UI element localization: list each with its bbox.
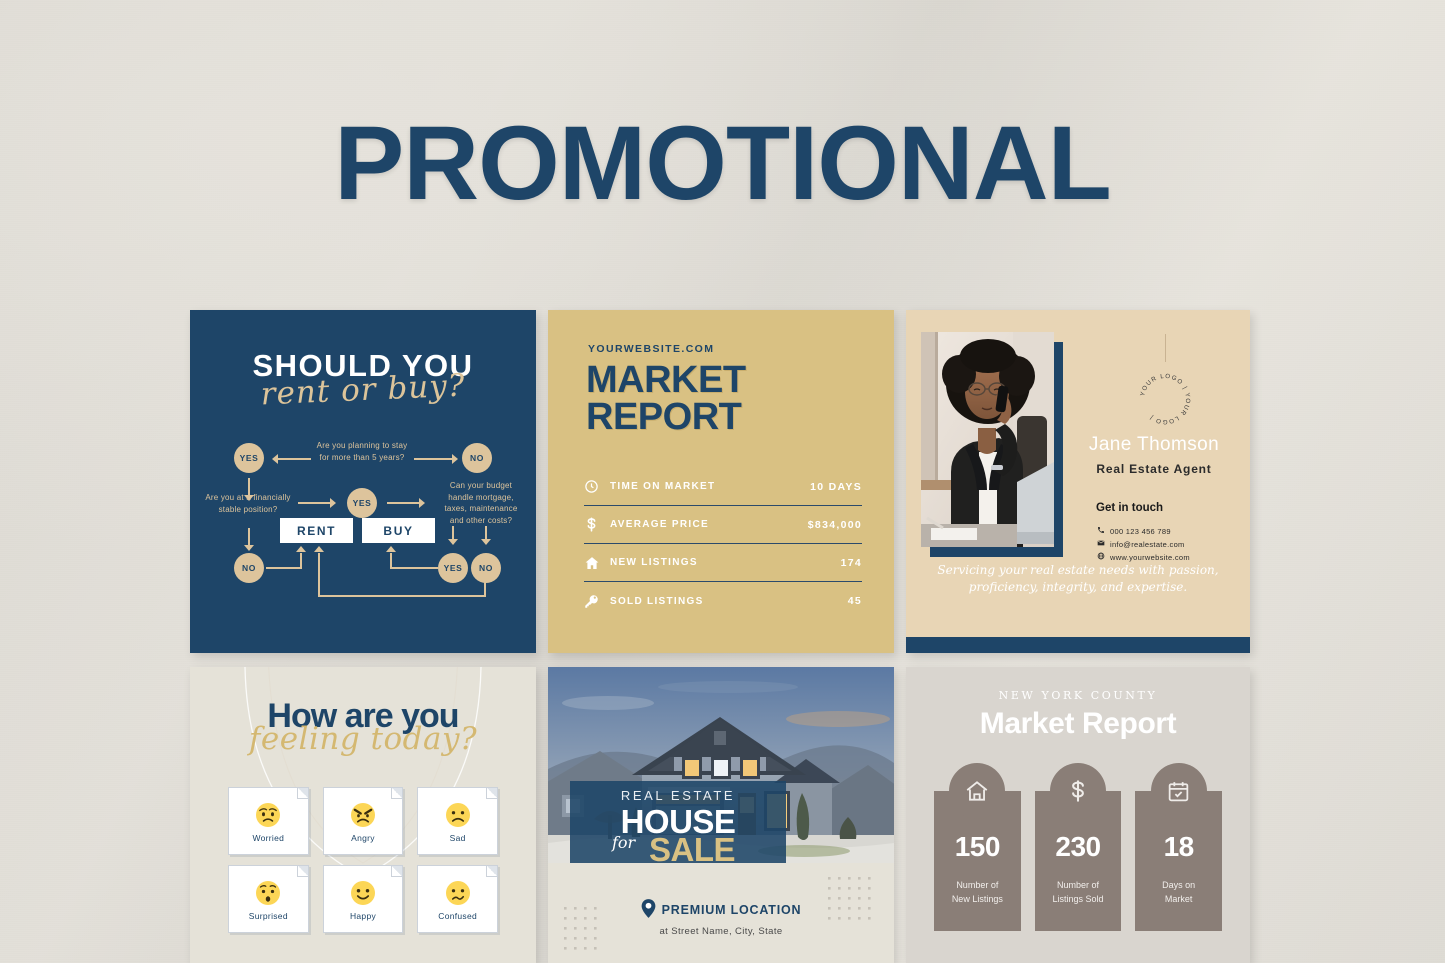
stat-caption-line2: Market xyxy=(1135,893,1222,907)
contact-text: www.yourwebsite.com xyxy=(1110,553,1190,562)
flow-arrowhead-6 xyxy=(244,545,254,551)
stat-label: NEW LISTINGS xyxy=(610,557,841,568)
flow-arrowhead-9 xyxy=(296,546,306,552)
rent-box[interactable]: RENT xyxy=(280,518,353,543)
flow-arrowhead-2 xyxy=(452,454,458,464)
card-rent-or-buy[interactable]: SHOULD YOU rent or buy? YES Are you plan… xyxy=(190,310,536,653)
logo-badge: YOUR LOGO | YOUR LOGO | xyxy=(1134,368,1196,430)
market-report-title-line1: MARKET xyxy=(586,362,746,399)
card-market-report[interactable]: YOURWEBSITE.COM MARKET REPORT TIME ON MA… xyxy=(548,310,894,653)
stat-caption-line1: Number of xyxy=(934,879,1021,893)
contact-text: info@realestate.com xyxy=(1110,540,1185,549)
flow-question-2: Are you at a financially stable position… xyxy=(202,492,294,515)
flow-question-3: Can your budget handle mortgage, taxes, … xyxy=(438,480,524,526)
county-stats: 150 Number of New Listings 230 Number of xyxy=(934,763,1222,931)
emoji-card-surprised[interactable]: Surprised xyxy=(228,865,309,933)
flow-arrowhead-11 xyxy=(314,546,324,552)
emoji-grid: Worried Angry xyxy=(228,787,498,933)
flow-node-yes-1: YES xyxy=(234,443,264,473)
angry-face-icon xyxy=(348,800,378,830)
flow-question-1: Are you planning to stay for more than 5… xyxy=(316,440,408,463)
emoji-label: Confused xyxy=(438,911,477,921)
emoji-card-worried[interactable]: Worried xyxy=(228,787,309,855)
page-fold-icon xyxy=(297,788,308,799)
stat-value: 10 DAYS xyxy=(810,481,862,493)
stat-number: 18 xyxy=(1135,831,1222,863)
emoji-label: Sad xyxy=(450,833,466,843)
banner-sale: SALE xyxy=(570,831,786,869)
agent-name: Jane Thomson xyxy=(1064,434,1244,456)
buy-box[interactable]: BUY xyxy=(362,518,435,543)
page-fold-icon xyxy=(486,866,497,877)
location-subtitle: at Street Name, City, State xyxy=(548,926,894,937)
confused-face-icon xyxy=(443,878,473,908)
flow-arrow-8 xyxy=(485,526,487,540)
location-title: PREMIUM LOCATION xyxy=(662,903,802,917)
logo-stem xyxy=(1165,334,1166,362)
flowchart: YES Are you planning to stay for more th… xyxy=(190,310,536,653)
emoji-card-confused[interactable]: Confused xyxy=(417,865,498,933)
flow-arrow-11b xyxy=(484,582,486,597)
stat-label: TIME ON MARKET xyxy=(610,481,810,492)
happy-face-icon xyxy=(348,878,378,908)
flow-node-yes-2: YES xyxy=(347,488,377,518)
flow-arrow-1 xyxy=(275,458,311,460)
stat-label: AVERAGE PRICE xyxy=(610,519,808,530)
stat-caption: Number of Listings Sold xyxy=(1035,879,1122,906)
stat-row-new-listings: NEW LISTINGS 174 xyxy=(584,544,862,582)
emoji-label: Angry xyxy=(351,833,375,843)
flow-arrow-9b xyxy=(300,553,302,569)
emoji-label: Happy xyxy=(350,911,376,921)
flow-arrow-4 xyxy=(298,502,330,504)
dollar-icon xyxy=(584,516,610,533)
county-stat-new-listings: 150 Number of New Listings xyxy=(934,763,1021,931)
page-title: PROMOTIONAL xyxy=(0,104,1445,224)
flow-arrowhead-5 xyxy=(419,498,425,508)
stat-number: 150 xyxy=(934,831,1021,863)
home-icon xyxy=(949,763,1005,819)
flow-arrow-5 xyxy=(387,502,419,504)
county-stat-listings-sold: 230 Number of Listings Sold xyxy=(1035,763,1122,931)
stat-label: SOLD LISTINGS xyxy=(610,596,848,607)
flow-arrow-9 xyxy=(266,567,302,569)
stat-caption-line1: Days on xyxy=(1135,879,1222,893)
agent-photo xyxy=(921,332,1054,547)
stat-value: $834,000 xyxy=(808,519,862,531)
agent-role: Real Estate Agent xyxy=(1064,462,1244,476)
stat-caption-line2: Listings Sold xyxy=(1035,893,1122,907)
svg-text:YOUR LOGO | YOUR LOGO |: YOUR LOGO | YOUR LOGO | xyxy=(1139,373,1191,425)
globe-icon xyxy=(1097,552,1105,562)
flow-arrow-11c xyxy=(318,553,320,597)
emoji-label: Worried xyxy=(252,833,284,843)
template-grid: SHOULD YOU rent or buy? YES Are you plan… xyxy=(190,310,1250,963)
flow-arrowhead-4 xyxy=(330,498,336,508)
market-stats-list: TIME ON MARKET 10 DAYS AVERAGE PRICE $83… xyxy=(584,468,862,620)
stat-row-average-price: AVERAGE PRICE $834,000 xyxy=(584,506,862,544)
card-agent-profile[interactable]: YOUR LOGO | YOUR LOGO | Jane Thomson Rea… xyxy=(906,310,1250,653)
flow-node-yes-3: YES xyxy=(438,553,468,583)
stat-caption-line1: Number of xyxy=(1035,879,1122,893)
clock-icon xyxy=(584,479,610,494)
banner-eyebrow: REAL ESTATE xyxy=(570,788,786,803)
calendar-icon xyxy=(1151,763,1207,819)
county-label: NEW YORK COUNTY xyxy=(906,689,1250,702)
contact-phone[interactable]: 000 123 456 789 xyxy=(1097,526,1171,536)
stat-number: 230 xyxy=(1035,831,1122,863)
stat-caption: Number of New Listings xyxy=(934,879,1021,906)
flow-arrow-7 xyxy=(452,526,454,540)
surprised-face-icon xyxy=(253,878,283,908)
market-report-title-line2: REPORT xyxy=(586,399,746,436)
mail-icon xyxy=(1097,539,1105,549)
emoji-card-happy[interactable]: Happy xyxy=(323,865,404,933)
page-fold-icon xyxy=(391,788,402,799)
flow-arrowhead-8 xyxy=(481,539,491,545)
website-label: YOURWEBSITE.COM xyxy=(588,343,714,355)
get-in-touch-heading: Get in touch xyxy=(1096,502,1163,514)
contact-website[interactable]: www.yourwebsite.com xyxy=(1097,552,1190,562)
page-fold-icon xyxy=(391,866,402,877)
feelings-subtitle: feeling today? xyxy=(190,721,536,757)
emoji-card-angry[interactable]: Angry xyxy=(323,787,404,855)
agent-tagline: Servicing your real estate needs with pa… xyxy=(926,562,1230,597)
dollar-icon xyxy=(1050,763,1106,819)
stat-row-time-on-market: TIME ON MARKET 10 DAYS xyxy=(584,468,862,506)
agent-footer-bar xyxy=(906,637,1250,653)
flow-arrow-10b xyxy=(390,553,392,569)
market-report-title: MARKET REPORT xyxy=(586,362,746,436)
stat-value: 174 xyxy=(841,557,862,569)
banner-for: for xyxy=(612,833,635,852)
stat-row-sold-listings: SOLD LISTINGS 45 xyxy=(584,582,862,620)
location-title-row: PREMIUM LOCATION xyxy=(641,899,802,921)
contact-text: 000 123 456 789 xyxy=(1110,527,1171,536)
card-feelings[interactable]: How are you feeling today? Worried xyxy=(190,667,536,963)
stat-caption-line2: New Listings xyxy=(934,893,1021,907)
for-sale-banner: REAL ESTATE HOUSE SALE for xyxy=(570,781,786,863)
location-block: PREMIUM LOCATION at Street Name, City, S… xyxy=(548,899,894,937)
sad-face-icon xyxy=(443,800,473,830)
contact-email[interactable]: info@realestate.com xyxy=(1097,539,1185,549)
flow-arrowhead-10 xyxy=(386,546,396,552)
map-pin-icon xyxy=(641,899,656,921)
flow-node-no-3: NO xyxy=(471,553,501,583)
phone-icon xyxy=(1097,526,1105,536)
card-house-for-sale[interactable]: REAL ESTATE HOUSE SALE for xyxy=(548,667,894,963)
emoji-card-sad[interactable]: Sad xyxy=(417,787,498,855)
flow-arrow-11 xyxy=(318,595,486,597)
flow-arrowhead-1 xyxy=(272,454,278,464)
flow-node-no-2: NO xyxy=(234,553,264,583)
flow-node-no-1: NO xyxy=(462,443,492,473)
agent-photo-container xyxy=(921,332,1056,550)
home-icon xyxy=(584,555,610,571)
flow-arrow-6 xyxy=(248,528,250,546)
card-county-market-report[interactable]: NEW YORK COUNTY Market Report 150 Number… xyxy=(906,667,1250,963)
page-fold-icon xyxy=(297,866,308,877)
flow-arrow-2 xyxy=(414,458,452,460)
page-fold-icon xyxy=(486,788,497,799)
stat-caption: Days on Market xyxy=(1135,879,1222,906)
county-stat-days-on-market: 18 Days on Market xyxy=(1135,763,1222,931)
key-icon xyxy=(584,594,610,609)
flow-arrowhead-7 xyxy=(448,539,458,545)
stat-value: 45 xyxy=(848,595,862,607)
emoji-label: Surprised xyxy=(249,911,288,921)
county-report-title: Market Report xyxy=(906,707,1250,741)
worried-face-icon xyxy=(253,800,283,830)
flow-arrow-10 xyxy=(390,567,438,569)
